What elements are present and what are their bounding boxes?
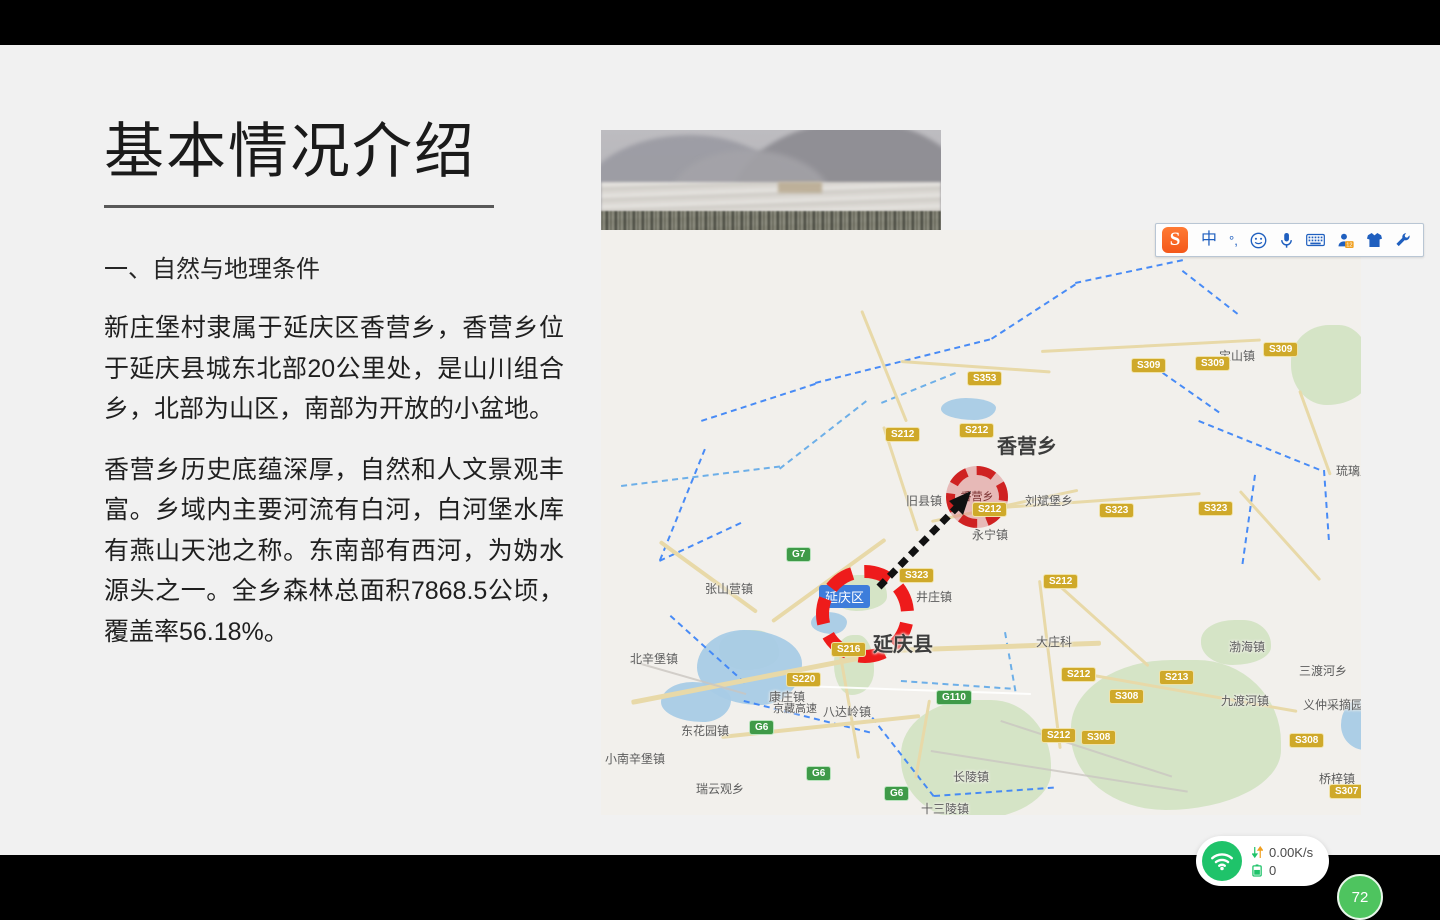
map-road-shield: S212 xyxy=(972,502,1007,517)
map-place-label: 三渡河乡 xyxy=(1299,662,1347,679)
network-count-row: 0 xyxy=(1252,863,1313,878)
map-road-shield: S307 xyxy=(1329,784,1361,799)
map-place-label: 京藏高速 xyxy=(773,700,817,716)
map-river xyxy=(779,400,867,469)
sogou-ime-toolbar[interactable]: S 中 °, 12 xyxy=(1155,223,1424,257)
map-road-shield: S323 xyxy=(1198,501,1233,516)
map-place-label: 永宁镇 xyxy=(972,526,1008,543)
map-place-label: 小南辛堡镇 xyxy=(605,750,665,767)
map-road xyxy=(1051,578,1150,667)
sogou-logo-icon[interactable]: S xyxy=(1162,227,1188,253)
map-place-label: 八达岭镇 xyxy=(823,703,871,720)
network-speed-widget[interactable]: 0.00K/s 0 xyxy=(1196,836,1329,886)
network-count-value: 0 xyxy=(1269,863,1276,878)
page-title: 基本情况介绍 xyxy=(104,120,574,183)
map-place-label: 九渡河镇 xyxy=(1221,692,1269,709)
map-boundary xyxy=(1241,475,1256,564)
map-boundary xyxy=(1323,470,1330,540)
map-road xyxy=(1038,580,1062,749)
map-road-shield: S323 xyxy=(1099,503,1134,518)
map-place-label: 北辛堡镇 xyxy=(630,650,678,667)
map-road-shield: G6 xyxy=(884,786,909,801)
section-heading: 一、自然与地理条件 xyxy=(104,252,574,288)
map-river xyxy=(1004,632,1016,691)
map-road-shield: S309 xyxy=(1263,342,1298,357)
battery-icon xyxy=(1252,864,1263,877)
network-speed-value: 0.00K/s xyxy=(1269,845,1313,860)
voice-input-icon[interactable] xyxy=(1279,232,1294,249)
map-place-label: 井庄镇 xyxy=(916,588,952,605)
map-place-label: 十三陵镇 xyxy=(921,800,969,815)
map-road-shield: S323 xyxy=(899,568,934,583)
map-place-label: 渤海镇 xyxy=(1229,638,1265,655)
skin-icon[interactable] xyxy=(1366,232,1383,248)
toolbox-icon[interactable] xyxy=(1395,232,1411,248)
region-map: 延庆区 香营乡 延庆县香营乡张山营镇旧县镇永宁镇刘斌堡乡井庄镇大庄科北辛堡镇康庄… xyxy=(601,230,1361,815)
map-place-label: 大庄科 xyxy=(1036,633,1072,650)
map-road-shield: S308 xyxy=(1109,689,1144,704)
title-underline xyxy=(104,205,494,208)
map-boundary xyxy=(1198,420,1319,471)
map-place-label: 琉璃庙 xyxy=(1336,462,1361,479)
map-road-shield: G6 xyxy=(749,720,774,735)
map-place-label: 香营乡 xyxy=(997,430,1057,459)
user-center-icon[interactable]: 12 xyxy=(1337,232,1354,249)
map-road-shield: S309 xyxy=(1131,358,1166,373)
map-place-label: 义仲采摘园 xyxy=(1303,696,1361,713)
status-badge[interactable]: 72 xyxy=(1337,874,1383,920)
map-road-shield: S212 xyxy=(1041,728,1076,743)
map-boundary xyxy=(991,284,1076,340)
svg-text:12: 12 xyxy=(1346,242,1352,248)
network-stats: 0.00K/s 0 xyxy=(1252,845,1313,878)
map-road xyxy=(659,540,758,614)
punctuation-mode-icon[interactable]: °, xyxy=(1229,234,1238,247)
map-road-shield: S216 xyxy=(831,642,866,657)
map-boundary xyxy=(701,383,816,422)
map-road-shield: S212 xyxy=(1043,574,1078,589)
map-boundary xyxy=(1182,270,1238,315)
map-place-label: 刘斌堡乡 xyxy=(1025,492,1073,509)
map-boundary xyxy=(1075,259,1183,284)
map-road-shield: G110 xyxy=(936,690,972,705)
map-reservoir xyxy=(941,398,996,420)
wifi-icon xyxy=(1202,841,1242,881)
map-road-shield: S220 xyxy=(786,672,821,687)
network-speed-row: 0.00K/s xyxy=(1252,845,1313,860)
map-place-label: 瑞云观乡 xyxy=(696,780,744,797)
soft-keyboard-icon[interactable] xyxy=(1306,233,1325,247)
map-road-shield: S212 xyxy=(959,423,994,438)
map-road-shield: S308 xyxy=(1289,733,1324,748)
updown-arrow-icon xyxy=(1252,846,1263,859)
slide-text-column: 基本情况介绍 一、自然与地理条件 新庄堡村隶属于延庆区香营乡，香营乡位于延庆县城… xyxy=(104,120,574,652)
map-road-shield: S212 xyxy=(1061,667,1096,682)
map-place-label: 长陵镇 xyxy=(953,768,989,785)
map-river xyxy=(621,466,780,487)
map-road-shield: S212 xyxy=(885,427,920,442)
map-place-label: 东花园镇 xyxy=(681,722,729,739)
map-place-label: 旧县镇 xyxy=(906,492,942,509)
emoji-icon[interactable] xyxy=(1250,232,1267,249)
map-road xyxy=(1239,490,1322,581)
map-road-shield: G6 xyxy=(806,766,831,781)
map-road-shield: S309 xyxy=(1195,356,1230,371)
screen: 基本情况介绍 一、自然与地理条件 新庄堡村隶属于延庆区香营乡，香营乡位于延庆县城… xyxy=(0,0,1440,900)
presentation-slide: 基本情况介绍 一、自然与地理条件 新庄堡村隶属于延庆区香营乡，香营乡位于延庆县城… xyxy=(0,45,1440,855)
body-paragraph-1: 新庄堡村隶属于延庆区香营乡，香营乡位于延庆县城东北部20公里处，是山川组合乡，北… xyxy=(104,308,564,430)
map-road-shield: S308 xyxy=(1081,730,1116,745)
photo-ruin xyxy=(778,182,822,193)
map-road-shield: S213 xyxy=(1159,670,1194,685)
map-road xyxy=(860,310,908,422)
map-road-shield: S353 xyxy=(967,371,1002,386)
map-place-label: 张山营镇 xyxy=(705,580,753,597)
map-place-label: 延庆县 xyxy=(873,628,933,657)
body-paragraph-2: 香营乡历史底蕴深厚，自然和人文景观丰富。乡域内主要河流有白河，白河堡水库有燕山天… xyxy=(104,450,564,653)
map-road-shield: G7 xyxy=(786,547,811,562)
chinese-mode-icon[interactable]: 中 xyxy=(1201,232,1217,248)
